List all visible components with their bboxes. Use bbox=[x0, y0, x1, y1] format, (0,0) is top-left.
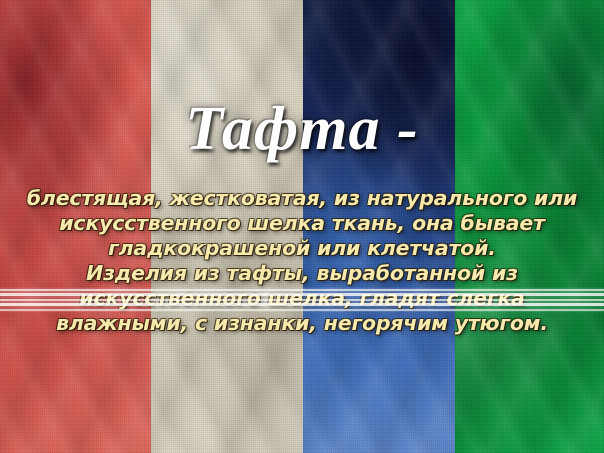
green-taffeta-panel bbox=[455, 0, 604, 453]
taffeta-info-slide: Тафта - блестящая, жестковатая, из натур… bbox=[0, 0, 604, 453]
fabric-sheen bbox=[303, 0, 455, 453]
fabric-grain bbox=[303, 0, 455, 453]
fabric-sheen bbox=[151, 0, 303, 453]
fabric-sheen-cross bbox=[455, 0, 604, 453]
fabric-sheen-cross bbox=[303, 0, 455, 453]
fabric-sheen-cross bbox=[151, 0, 303, 453]
fabric-sheen-cross bbox=[0, 0, 151, 453]
fabric-grain bbox=[455, 0, 604, 453]
fabric-grain bbox=[151, 0, 303, 453]
fabric-sheen bbox=[0, 0, 151, 453]
beige-taffeta-panel bbox=[151, 0, 303, 453]
blue-taffeta-panel bbox=[303, 0, 455, 453]
red-taffeta-panel bbox=[0, 0, 151, 453]
fabric-grain bbox=[0, 0, 151, 453]
fabric-panel-strip bbox=[0, 0, 604, 453]
fabric-sheen bbox=[455, 0, 604, 453]
